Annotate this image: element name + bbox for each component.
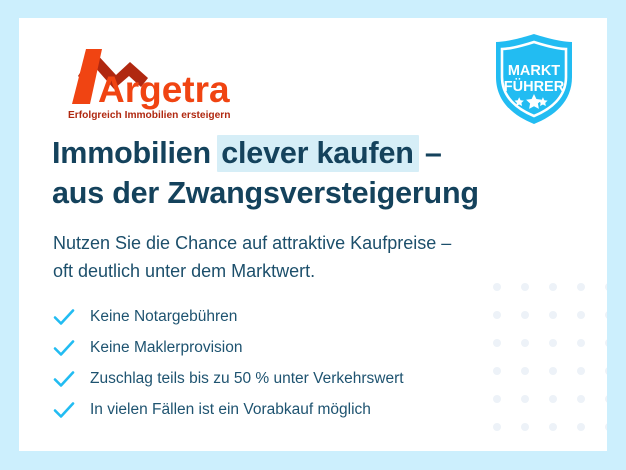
decorative-dot (493, 311, 501, 319)
decorative-dot (493, 283, 501, 291)
decorative-dot (521, 367, 529, 375)
benefit-label: Keine Maklerprovision (90, 339, 243, 357)
benefit-label: Zuschlag teils bis zu 50 % unter Verkehr… (90, 370, 404, 388)
decorative-dot (521, 423, 529, 431)
decorative-dot (605, 395, 607, 403)
headline-part-2: – (417, 136, 442, 170)
decorative-dot (493, 367, 501, 375)
benefit-label: In vielen Fällen ist ein Vorabkauf mögli… (90, 401, 371, 419)
decorative-dot (577, 311, 585, 319)
decorative-dot (577, 367, 585, 375)
argetra-logo[interactable]: Argetra Erfolgreich Immobilien ersteiger… (56, 42, 256, 126)
badge-line-1: MARKT (508, 63, 560, 79)
benefit-list: Keine NotargebührenKeine Maklerprovision… (53, 301, 404, 425)
logo-wordmark: Argetra (98, 69, 230, 110)
decorative-dot (549, 339, 557, 347)
headline-line-2: aus der Zwangsversteigerung (52, 176, 479, 210)
decorative-dot-grid (483, 273, 607, 451)
decorative-dot (577, 339, 585, 347)
decorative-dot (549, 283, 557, 291)
decorative-dot (577, 423, 585, 431)
check-icon (53, 401, 79, 419)
decorative-dot (549, 395, 557, 403)
logo-tagline: Erfolgreich Immobilien ersteigern (68, 110, 230, 121)
benefit-list-item: Keine Notargebühren (53, 301, 404, 332)
markt-fuehrer-badge: MARKT FÜHRER (488, 30, 580, 128)
decorative-dot (493, 395, 501, 403)
subcopy-line-1: Nutzen Sie die Chance auf attraktive Kau… (53, 233, 451, 253)
decorative-dot (549, 367, 557, 375)
headline: Immobilien clever kaufen – aus der Zwang… (52, 134, 479, 213)
decorative-dot (549, 423, 557, 431)
decorative-dot (521, 395, 529, 403)
benefit-list-item: In vielen Fällen ist ein Vorabkauf mögli… (53, 394, 404, 425)
subcopy-line-2: oft deutlich unter dem Marktwert. (53, 261, 315, 281)
decorative-dot (577, 395, 585, 403)
benefit-list-item: Keine Maklerprovision (53, 332, 404, 363)
decorative-dot (577, 283, 585, 291)
check-icon (53, 339, 79, 357)
decorative-dot (493, 423, 501, 431)
decorative-dot (521, 311, 529, 319)
headline-part-1: Immobilien (52, 136, 219, 170)
decorative-dot (521, 283, 529, 291)
check-icon (53, 370, 79, 388)
decorative-dot (549, 311, 557, 319)
badge-line-2: FÜHRER (504, 78, 565, 95)
decorative-dot (605, 283, 607, 291)
decorative-dot (605, 311, 607, 319)
benefit-list-item: Zuschlag teils bis zu 50 % unter Verkehr… (53, 363, 404, 394)
check-icon (53, 308, 79, 326)
banner-frame: Argetra Erfolgreich Immobilien ersteiger… (0, 0, 626, 470)
benefit-label: Keine Notargebühren (90, 308, 237, 326)
decorative-dot (605, 367, 607, 375)
decorative-dot (493, 339, 501, 347)
headline-highlight: clever kaufen (217, 135, 418, 172)
decorative-dot (521, 339, 529, 347)
banner-card: Argetra Erfolgreich Immobilien ersteiger… (19, 18, 607, 451)
decorative-dot (605, 423, 607, 431)
subcopy: Nutzen Sie die Chance auf attraktive Kau… (53, 229, 451, 286)
decorative-dot (605, 339, 607, 347)
